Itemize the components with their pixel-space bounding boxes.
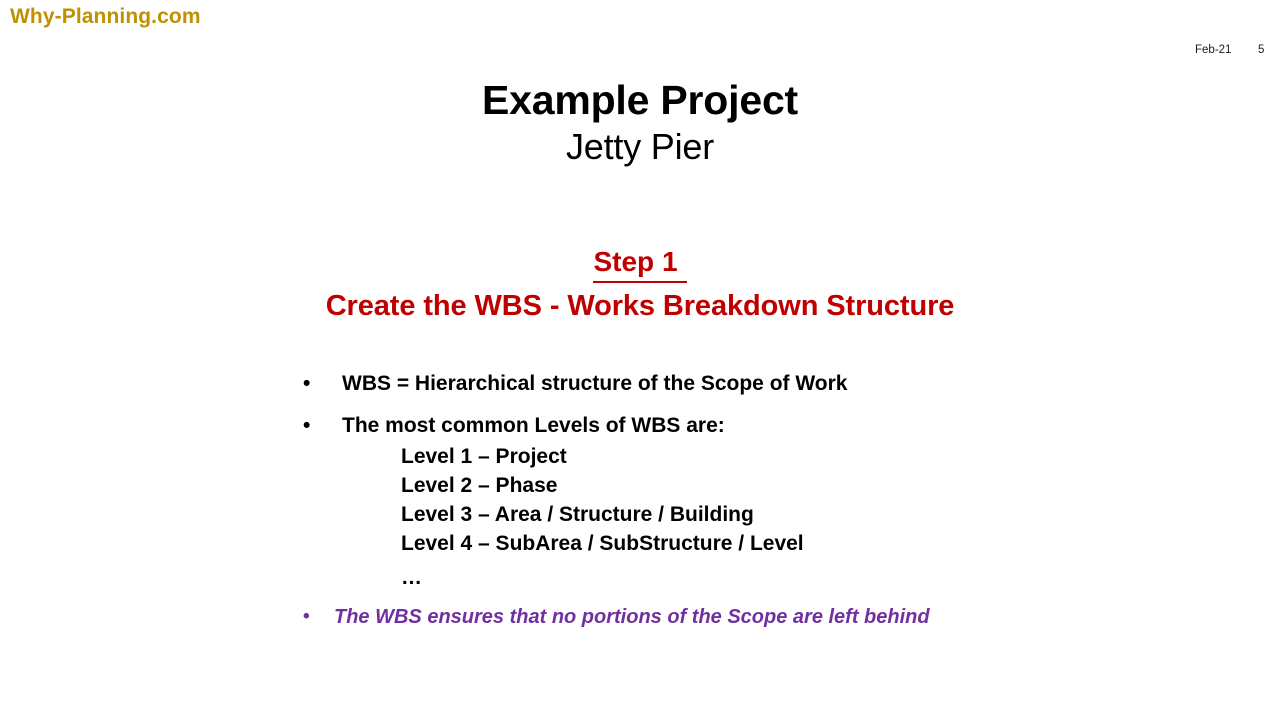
- bullet-item-closing-note: • The WBS ensures that no portions of th…: [0, 602, 1280, 632]
- bullet-point-icon: •: [303, 410, 310, 441]
- list-item: Level 3 – Area / Structure / Building: [0, 500, 1280, 529]
- bullet-item-levels-intro: • The most common Levels of WBS are:: [0, 410, 1280, 441]
- page-subtitle: Jetty Pier: [0, 124, 1280, 169]
- step-label: Step 1: [593, 244, 686, 283]
- list-item: Level 4 – SubArea / SubStructure / Level: [0, 529, 1280, 558]
- page-title: Example Project: [0, 76, 1280, 124]
- list-item: Level 1 – Project: [0, 442, 1280, 471]
- wbs-level-list: Level 1 – Project Level 2 – Phase Level …: [0, 442, 1280, 558]
- bullet-point-icon: •: [303, 602, 310, 632]
- bullet-text: WBS = Hierarchical structure of the Scop…: [342, 372, 847, 395]
- closing-note-text: The WBS ensures that no portions of the …: [334, 606, 930, 628]
- brand-logo: Why-Planning.com: [10, 5, 201, 29]
- slide-number: 5: [1258, 44, 1264, 56]
- slide-meta: Feb-21 5: [1020, 44, 1280, 60]
- bullet-text: The most common Levels of WBS are:: [342, 414, 725, 437]
- step-label-wrap: Step 1: [0, 244, 1280, 283]
- list-item: Level 2 – Phase: [0, 471, 1280, 500]
- slide-date: Feb-21: [1195, 44, 1231, 56]
- step-heading-block: Step 1 Create the WBS - Works Breakdown …: [0, 244, 1280, 324]
- body-content: • WBS = Hierarchical structure of the Sc…: [0, 368, 1280, 632]
- step-heading: Create the WBS - Works Breakdown Structu…: [0, 288, 1280, 324]
- level-list-continuation: …: [0, 563, 1280, 592]
- bullet-item-definition: • WBS = Hierarchical structure of the Sc…: [0, 368, 1280, 399]
- title-block: Example Project Jetty Pier: [0, 76, 1280, 169]
- bullet-point-icon: •: [303, 368, 310, 399]
- slide-canvas: Why-Planning.com Feb-21 5 Example Projec…: [0, 0, 1280, 720]
